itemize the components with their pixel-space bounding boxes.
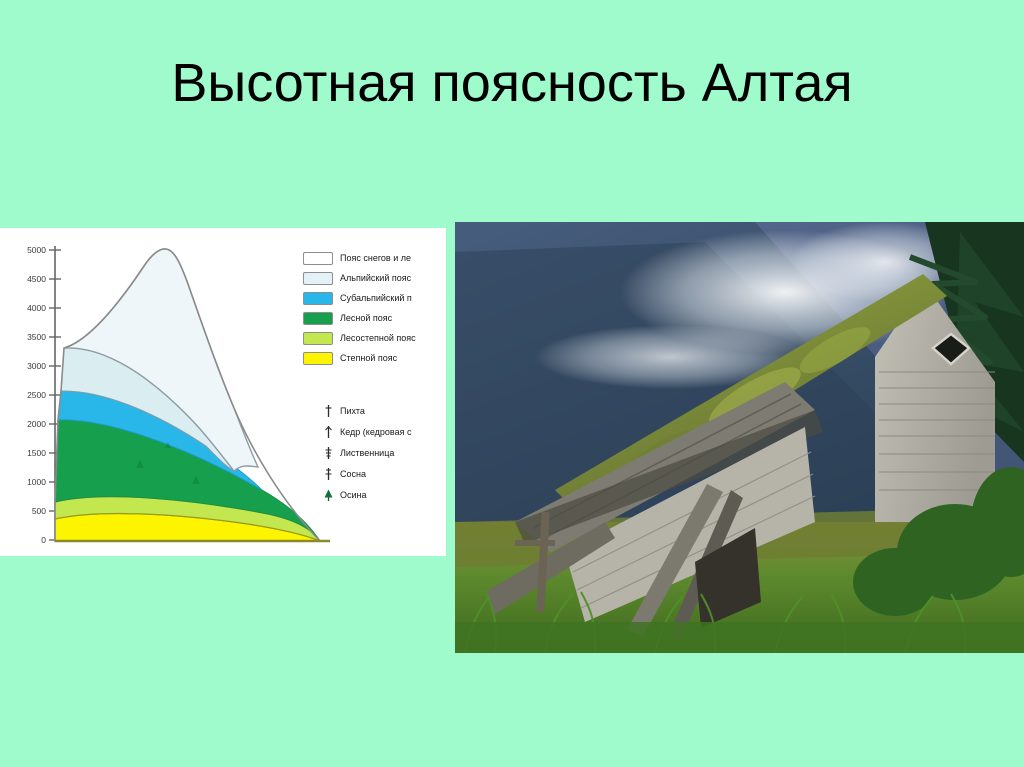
pine-tree-symbol-icon [322,466,334,481]
legend-item-snow: Пояс снегов и ле [303,248,446,268]
species-label-fir: Пихта [340,406,365,416]
chart-inner: 5000 4500 4000 3500 3000 2500 2000 1500 … [0,228,446,556]
species-item-larch: Лиственница [322,442,446,463]
legend-swatch-snow [303,252,333,265]
species-item-fir: Пихта [322,400,446,421]
legend-swatch-alpine [303,272,333,285]
legend-item-alpine: Альпийский пояс [303,268,446,288]
legend-label-forest: Лесной пояс [340,313,392,323]
chart-legend-species: Пихта Кедр (кедровая с Лиственница Сосна [322,400,446,505]
legend-label-snow: Пояс снегов и ле [340,253,411,263]
legend-label-alpine: Альпийский пояс [340,273,411,283]
legend-item-subalpine: Субальпийский п [303,288,446,308]
legend-label-steppe: Степной пояс [340,353,397,363]
legend-item-forest: Лесной пояс [303,308,446,328]
species-item-pine: Сосна [322,463,446,484]
species-label-aspen: Осина [340,490,367,500]
legend-swatch-forest [303,312,333,325]
species-label-pine: Сосна [340,469,366,479]
legend-item-forest-steppe: Лесостепной пояс [303,328,446,348]
larch-tree-symbol-icon [322,445,334,460]
species-label-larch: Лиственница [340,448,394,458]
legend-swatch-steppe [303,352,333,365]
legend-label-subalpine: Субальпийский п [340,293,412,303]
fir-tree-symbol-icon [322,403,334,418]
legend-item-steppe: Степной пояс [303,348,446,368]
species-item-cedar: Кедр (кедровая с [322,421,446,442]
legend-label-forest-steppe: Лесостепной пояс [340,333,416,343]
altitudinal-zonation-chart: 5000 4500 4000 3500 3000 2500 2000 1500 … [0,228,446,556]
legend-swatch-subalpine [303,292,333,305]
aspen-tree-symbol-icon [322,487,334,502]
page-title: Высотная поясность Алтая [0,52,1024,114]
photo-grass-base [455,622,1024,653]
legend-swatch-forest-steppe [303,332,333,345]
chart-legend-zones: Пояс снегов и ле Альпийский пояс Субальп… [303,248,446,368]
photo-illustration [455,222,1024,653]
cedar-tree-symbol-icon [322,424,334,439]
cabin-photograph [455,222,1024,653]
species-label-cedar: Кедр (кедровая с [340,427,411,437]
species-item-aspen: Осина [322,484,446,505]
